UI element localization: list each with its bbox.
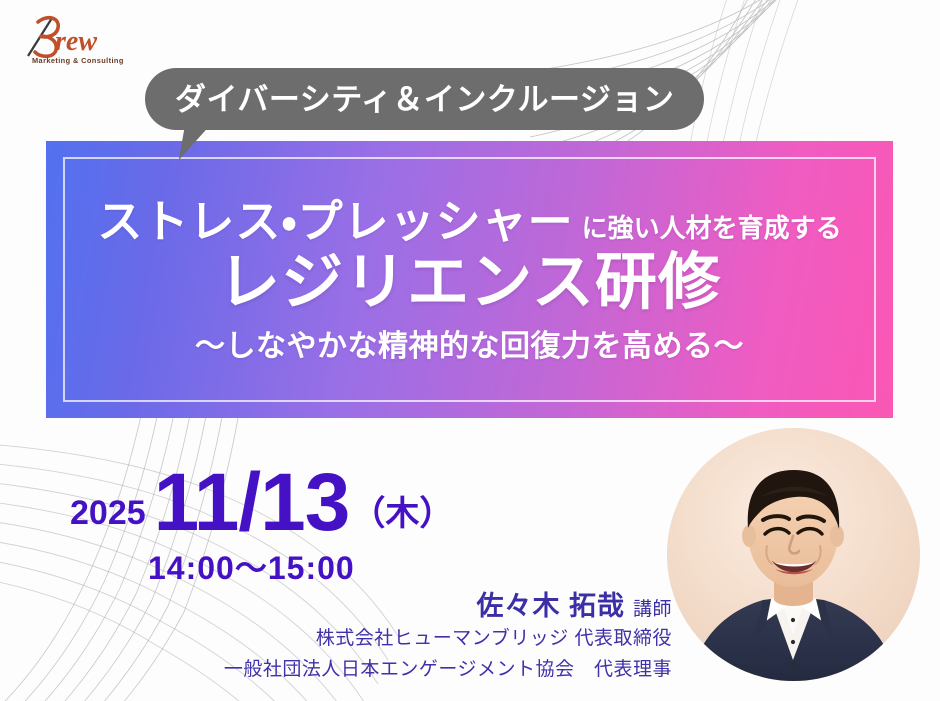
speaker-role: 講師 (633, 594, 672, 621)
schedule-day-of-week: （木） (351, 497, 453, 540)
banner-subtitle: 〜しなやかな精神的な回復力を高める〜 (195, 330, 744, 363)
diversity-badge: ダイバーシティ＆インクルージョン (145, 68, 704, 130)
speaker-block: 佐々木 拓哉 講師 株式会社ヒューマンブリッジ 代表取締役 一般社団法人日本エン… (0, 592, 672, 684)
speaker-name-row: 佐々木 拓哉 講師 (0, 592, 672, 622)
speaker-portrait (667, 428, 920, 681)
svg-text:Marketing & Consulting: Marketing & Consulting (32, 56, 124, 65)
schedule-year: 2025 (70, 496, 146, 540)
speaker-affiliation-line-2: 一般社団法人日本エンゲージメント協会 代表理事 (0, 657, 672, 684)
poster-canvas: rew Marketing & Consulting ダイバーシティ＆インクルー… (0, 0, 940, 701)
svg-text:rew: rew (55, 26, 97, 57)
diversity-badge-label: ダイバーシティ＆インクルージョン (175, 84, 674, 115)
banner-content: ストレス・プレッシャー に強い人材を育成する レジリエンス研修 〜しなやかな精神… (46, 141, 893, 418)
schedule-time: 14:00〜15:00 (148, 552, 490, 584)
banner-title: レジリエンス研修 (218, 248, 721, 317)
main-title-banner: ストレス・プレッシャー に強い人材を育成する レジリエンス研修 〜しなやかな精神… (46, 141, 893, 418)
schedule-block: 2025 11/13 （木） 14:00〜15:00 (70, 465, 490, 584)
headline-suffix: に強い人材を育成する (582, 208, 842, 245)
banner-headline-row: ストレス・プレッシャー に強い人材を育成する (97, 198, 841, 246)
brew-logo: rew Marketing & Consulting (8, 8, 138, 68)
headline-prefix: ストレス・プレッシャー (97, 198, 573, 246)
speaker-name: 佐々木 拓哉 (476, 592, 625, 622)
speaker-affiliation-line-1: 株式会社ヒューマンブリッジ 代表取締役 (0, 626, 672, 653)
schedule-date-row: 2025 11/13 （木） (70, 465, 490, 540)
schedule-date: 11/13 (154, 465, 350, 540)
